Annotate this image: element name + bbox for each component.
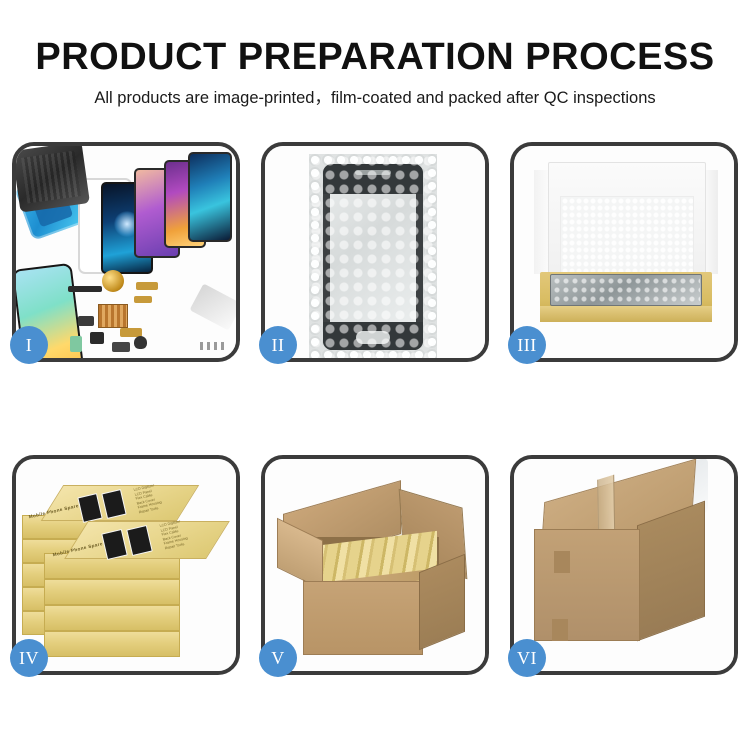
tweezers-tool xyxy=(190,283,236,330)
step-badge-5: V xyxy=(259,639,297,677)
battery-component xyxy=(70,336,82,352)
kraft-box-front xyxy=(540,306,712,322)
step-badge-4: IV xyxy=(10,639,48,677)
page-subtitle: All products are image-printed，film-coat… xyxy=(0,84,750,108)
flex-cable-4 xyxy=(78,316,94,326)
retail-box-stack: Mobile Phone Spare Parts LCD DigitizerLC… xyxy=(18,479,236,659)
home-button xyxy=(356,331,390,344)
step-5-image xyxy=(265,459,485,671)
sealed-carton-right-face xyxy=(637,501,705,642)
phone-back-housing xyxy=(16,146,90,213)
carton-front-face xyxy=(303,581,423,655)
stack-box-front-2 xyxy=(44,579,180,605)
screws-group xyxy=(200,342,226,350)
carton-tab-upper xyxy=(554,551,570,573)
earpiece-slot xyxy=(355,170,391,175)
flex-cable-6 xyxy=(90,332,104,344)
wrapped-screen-in-box xyxy=(550,274,702,306)
foam-insert xyxy=(560,196,694,276)
phone-screen-teal xyxy=(188,152,232,242)
step-panel-6: VI xyxy=(510,455,738,675)
step-panel-2: II xyxy=(261,142,489,362)
carton-tab-lower xyxy=(552,619,568,641)
step-badge-1: I xyxy=(10,326,48,364)
step-badge-2: II xyxy=(259,326,297,364)
chip-component xyxy=(98,304,128,328)
step-4-image: Mobile Phone Spare Parts LCD DigitizerLC… xyxy=(16,459,236,671)
coil-component xyxy=(102,270,124,292)
step-6-image xyxy=(514,459,734,671)
step-1-image xyxy=(16,146,236,358)
flex-cable-2 xyxy=(136,282,158,290)
step-panel-4: Mobile Phone Spare Parts LCD DigitizerLC… xyxy=(12,455,240,675)
flex-cable-7 xyxy=(112,342,130,352)
sealed-carton-front-face xyxy=(534,529,640,641)
stack-box-front-3 xyxy=(44,605,180,631)
step-2-image xyxy=(265,146,485,358)
step-panel-5: V xyxy=(261,455,489,675)
step-badge-6: VI xyxy=(508,639,546,677)
stack-box-front-4 xyxy=(44,631,180,657)
phone-parts-scene xyxy=(16,146,236,358)
step-panel-3: III xyxy=(510,142,738,362)
infographic-page: PRODUCT PREPARATION PROCESS All products… xyxy=(0,0,750,750)
carton-right-face xyxy=(419,554,465,651)
flex-cable-1 xyxy=(68,286,102,292)
wrapped-screen-frame xyxy=(323,164,423,350)
speaker-component xyxy=(134,336,147,349)
flex-cable-3 xyxy=(134,296,152,303)
step-3-image xyxy=(514,146,734,358)
step-panel-1: I xyxy=(12,142,240,362)
step-badge-3: III xyxy=(508,326,546,364)
page-title: PRODUCT PREPARATION PROCESS xyxy=(0,36,750,79)
steps-grid: I II II xyxy=(12,142,738,676)
